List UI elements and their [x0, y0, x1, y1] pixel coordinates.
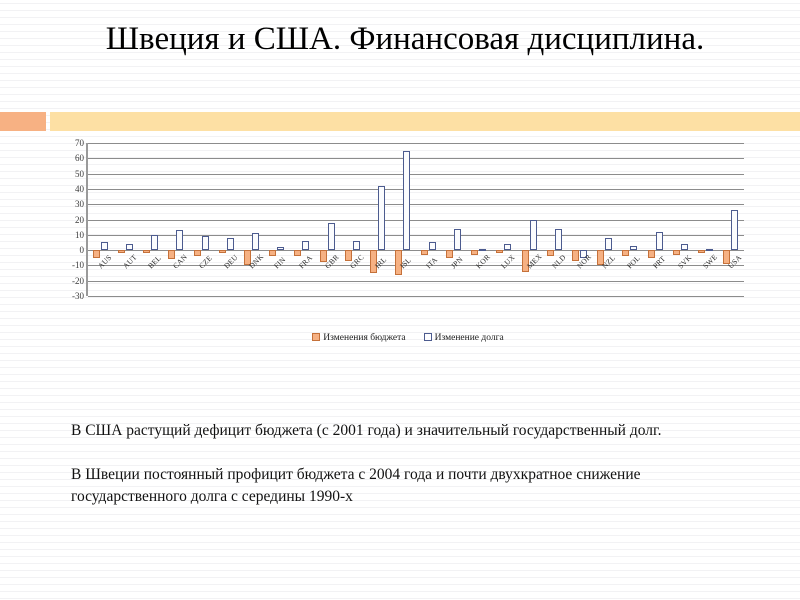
y-tick-label: -30 — [58, 292, 84, 301]
bar-group — [315, 143, 340, 296]
bar-debt — [530, 220, 537, 251]
bar-debt — [176, 230, 183, 250]
y-tick-label: 50 — [58, 170, 84, 179]
legend-label: Изменение долга — [435, 333, 504, 343]
bar-group — [340, 143, 365, 296]
bar-budget — [118, 250, 125, 253]
bar-budget — [421, 250, 428, 255]
bar-group — [189, 143, 214, 296]
bar-debt — [555, 229, 562, 250]
bar-series-group — [88, 143, 744, 296]
accent-bar — [50, 112, 800, 131]
y-tick-label: 10 — [58, 231, 84, 240]
bar-budget — [294, 250, 301, 256]
bar-debt — [706, 249, 713, 251]
bar-debt — [731, 210, 738, 250]
bar-group — [416, 143, 441, 296]
bar-budget — [93, 250, 100, 258]
page-title: Швеция и США. Финансовая дисциплина. — [60, 18, 750, 60]
bar-group — [391, 143, 416, 296]
bar-debt — [353, 241, 360, 250]
legend-label: Изменения бюджета — [323, 333, 405, 343]
bar-debt — [101, 242, 108, 250]
bar-group — [719, 143, 744, 296]
bar-debt — [630, 246, 637, 251]
legend-swatch — [424, 333, 432, 341]
bar-debt — [302, 241, 309, 250]
bar-budget — [673, 250, 680, 255]
bar-group — [366, 143, 391, 296]
bar-debt — [403, 151, 410, 250]
paragraph-usa: В США растущий дефицит бюджета (с 2001 г… — [71, 420, 751, 442]
y-axis: 706050403020100-10-20-30 — [58, 143, 84, 296]
legend-swatch — [312, 333, 320, 341]
bar-budget — [194, 250, 201, 256]
decorative-band — [0, 112, 800, 131]
y-tick-label: -20 — [58, 277, 84, 286]
bar-debt — [656, 232, 663, 250]
bar-group — [567, 143, 592, 296]
y-tick-label: 60 — [58, 154, 84, 163]
accent-square — [0, 112, 46, 131]
bar-debt — [479, 249, 486, 251]
bar-budget — [168, 250, 175, 259]
bar-debt — [681, 244, 688, 250]
bar-debt — [252, 233, 259, 250]
bar-group — [265, 143, 290, 296]
bar-group — [290, 143, 315, 296]
body-text: В США растущий дефицит бюджета (с 2001 г… — [71, 420, 751, 530]
chart-container: 706050403020100-10-20-30 AUSAUTBELCANCZE… — [58, 143, 758, 363]
bar-group — [113, 143, 138, 296]
chart-plot-wrapper: 706050403020100-10-20-30 — [58, 143, 758, 308]
bar-budget — [219, 250, 226, 253]
bar-budget — [622, 250, 629, 256]
bar-budget — [496, 250, 503, 253]
bar-debt — [202, 236, 209, 250]
y-tick-label: 0 — [58, 246, 84, 255]
bar-debt — [429, 242, 436, 250]
chart-legend: Изменения бюджетаИзменение долга — [58, 333, 758, 343]
bar-group — [164, 143, 189, 296]
bar-group — [643, 143, 668, 296]
bar-group — [492, 143, 517, 296]
bar-debt — [227, 238, 234, 250]
bar-debt — [277, 247, 284, 250]
bar-group — [517, 143, 542, 296]
bar-group — [239, 143, 264, 296]
bar-debt — [454, 229, 461, 250]
plot-area — [86, 143, 744, 296]
bar-group — [668, 143, 693, 296]
bar-budget — [471, 250, 478, 255]
bar-group — [542, 143, 567, 296]
legend-item: Изменения бюджета — [312, 333, 405, 343]
bar-debt — [378, 186, 385, 250]
bar-debt — [504, 244, 511, 250]
bar-budget — [446, 250, 453, 258]
y-tick-label: -10 — [58, 261, 84, 270]
bar-group — [618, 143, 643, 296]
bar-budget — [547, 250, 554, 256]
legend-item: Изменение долга — [424, 333, 504, 343]
bar-budget — [698, 250, 705, 253]
bar-group — [88, 143, 113, 296]
bar-budget — [648, 250, 655, 258]
bar-group — [138, 143, 163, 296]
y-tick-label: 20 — [58, 216, 84, 225]
y-tick-label: 70 — [58, 139, 84, 148]
bar-group — [214, 143, 239, 296]
bar-group — [694, 143, 719, 296]
gridline — [88, 296, 744, 297]
paragraph-sweden: В Швеции постоянный профицит бюджета с 2… — [71, 464, 751, 508]
bar-debt — [328, 223, 335, 251]
bar-group — [441, 143, 466, 296]
bar-debt — [126, 244, 133, 250]
bar-group — [593, 143, 618, 296]
bar-group — [466, 143, 491, 296]
bar-debt — [151, 235, 158, 250]
bar-budget — [269, 250, 276, 256]
y-tick-label: 30 — [58, 200, 84, 209]
bar-budget — [143, 250, 150, 253]
y-tick-label: 40 — [58, 185, 84, 194]
bar-debt — [605, 238, 612, 250]
